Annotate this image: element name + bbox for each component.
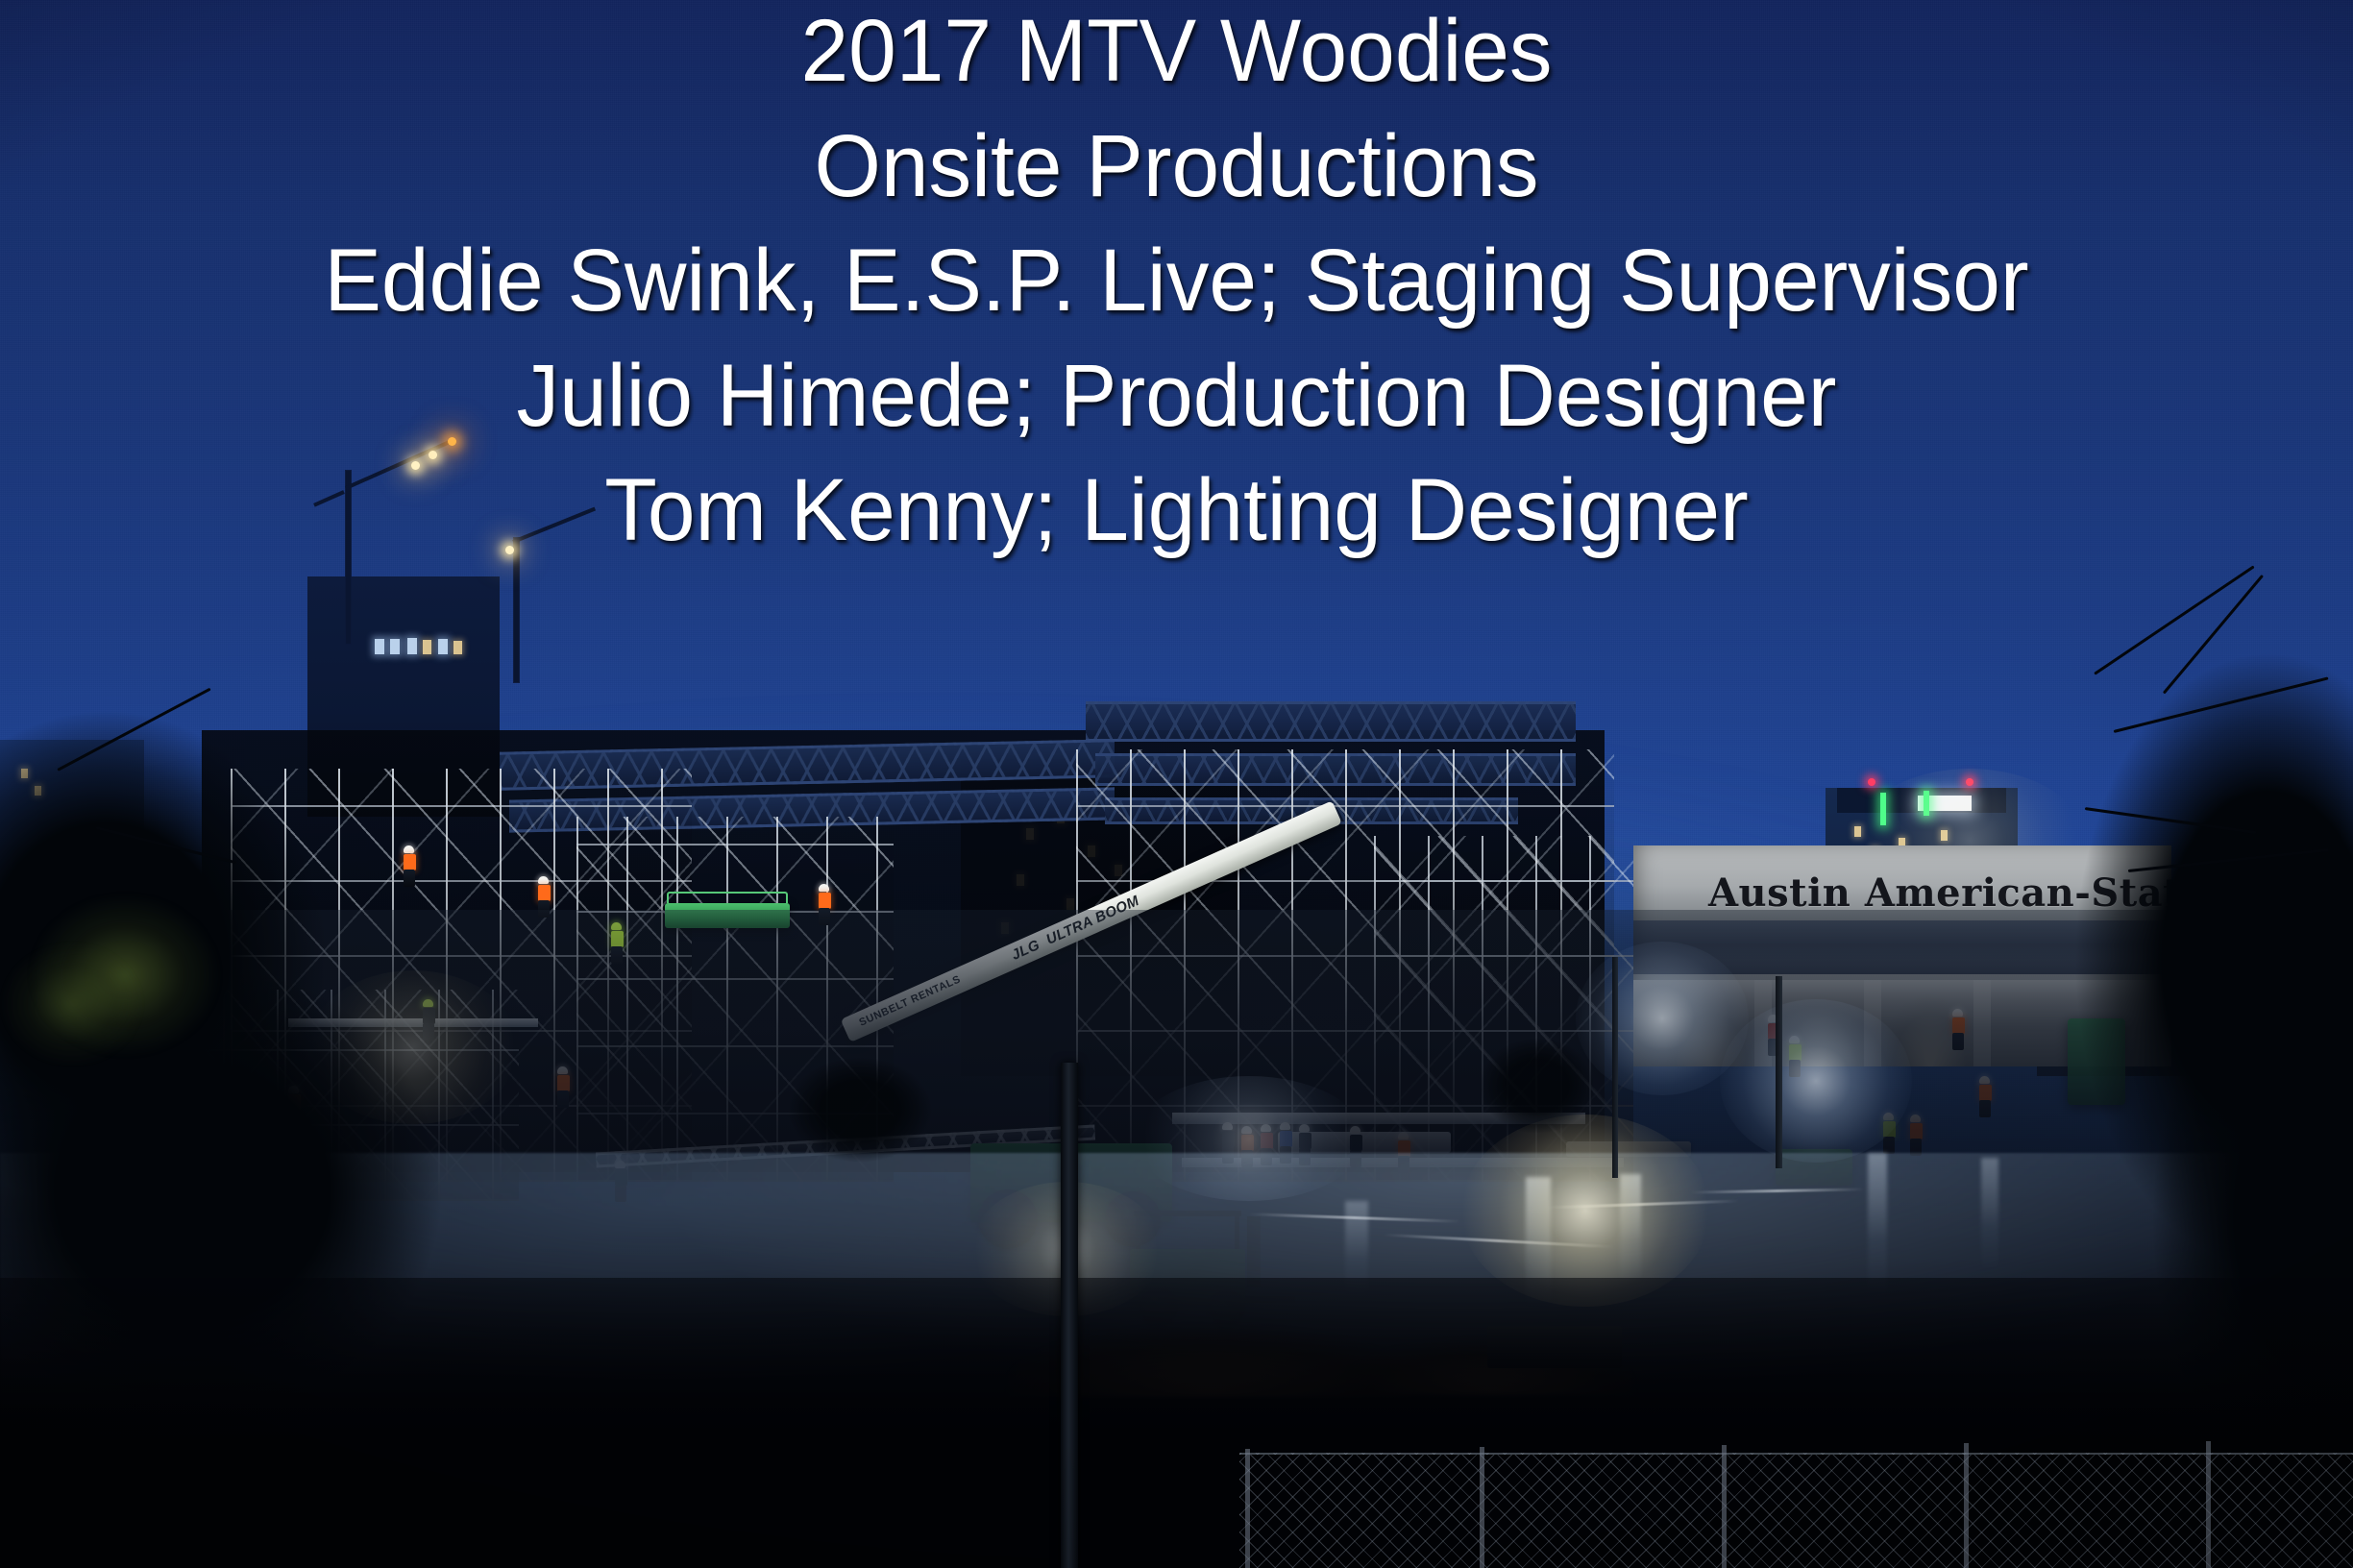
window-light — [1941, 830, 1948, 841]
slide-canvas: Austin American-Statesman — [0, 0, 2353, 1568]
light-tower-mast — [1612, 957, 1618, 1178]
light-reflection-on-wet-asphalt — [1981, 1158, 1998, 1273]
shrub-silhouette — [1480, 1038, 1595, 1134]
window-light — [1854, 826, 1861, 837]
fence-post — [1245, 1449, 1250, 1568]
highrise-green-accent-light — [1880, 793, 1886, 825]
light-reflection-on-wet-asphalt — [1868, 1153, 1887, 1297]
roof-truss-center-upper — [1086, 701, 1576, 742]
highrise-green-accent-light — [1924, 791, 1929, 816]
window-light — [438, 639, 448, 654]
light-tower-mast — [1776, 976, 1782, 1168]
window-light — [407, 638, 417, 654]
aviation-warning-light — [1966, 778, 1973, 786]
foreground-light-pole — [1061, 1063, 1078, 1568]
fence-post — [1480, 1447, 1484, 1568]
fence-post — [2206, 1441, 2211, 1568]
sunlit-foliage-left — [0, 942, 144, 1066]
window-light — [423, 640, 431, 654]
chain-link-fence — [1239, 1453, 2353, 1568]
shrub-silhouette — [788, 1057, 932, 1163]
tower-crane-left — [288, 461, 404, 644]
aviation-warning-light — [1868, 778, 1875, 786]
fence-post — [1722, 1445, 1727, 1568]
tower-crane-right — [461, 519, 567, 682]
light-reflection-on-wet-asphalt — [1620, 1174, 1641, 1285]
fence-post — [1964, 1443, 1969, 1568]
